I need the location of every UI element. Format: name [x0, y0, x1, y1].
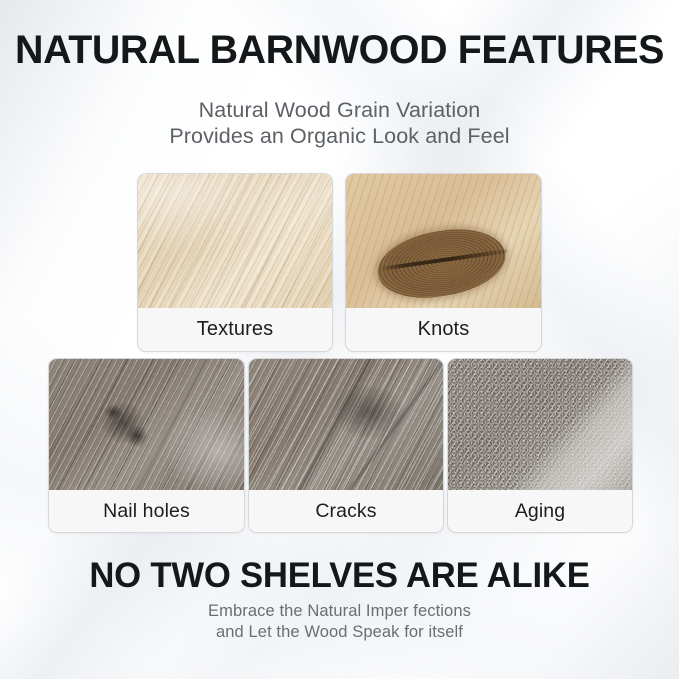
feature-card-textures[interactable]: Textures	[137, 173, 333, 352]
footer-title: NO TWO SHELVES ARE ALIKE	[3, 556, 675, 596]
feature-image-knots	[346, 174, 541, 310]
footer-subtitle: Embrace the Natural Imper fections and L…	[0, 601, 679, 643]
header-subtitle: Natural Wood Grain Variation Provides an…	[0, 97, 679, 149]
feature-image-cracks	[249, 359, 443, 492]
footer-subtitle-line-2: and Let the Wood Speak for itself	[0, 622, 679, 643]
feature-label-nail-holes: Nail holes	[49, 490, 244, 532]
wood-knot-swatch-icon	[346, 174, 541, 310]
header-subtitle-line-1: Natural Wood Grain Variation	[0, 97, 679, 123]
wood-crack-swatch-icon	[249, 359, 443, 492]
feature-label-cracks: Cracks	[249, 490, 443, 532]
feature-card-nail-holes[interactable]: Nail holes	[48, 358, 245, 533]
feature-card-cracks[interactable]: Cracks	[248, 358, 444, 533]
wood-texture-swatch-icon	[138, 174, 332, 310]
infographic-root: NATURAL BARNWOOD FEATURES Natural Wood G…	[0, 0, 679, 679]
feature-label-textures: Textures	[138, 308, 332, 351]
footer-subtitle-line-1: Embrace the Natural Imper fections	[0, 601, 679, 622]
wood-aging-swatch-icon	[448, 359, 632, 492]
feature-label-aging: Aging	[448, 490, 632, 532]
feature-card-aging[interactable]: Aging	[447, 358, 633, 533]
feature-image-nail-holes	[49, 359, 244, 492]
feature-label-knots: Knots	[346, 308, 541, 351]
wood-nailhole-swatch-icon	[49, 359, 244, 492]
page-title: NATURAL BARNWOOD FEATURES	[5, 28, 674, 73]
feature-card-knots[interactable]: Knots	[345, 173, 542, 352]
feature-image-textures	[138, 174, 332, 310]
header-subtitle-line-2: Provides an Organic Look and Feel	[0, 123, 679, 149]
feature-image-aging	[448, 359, 632, 492]
